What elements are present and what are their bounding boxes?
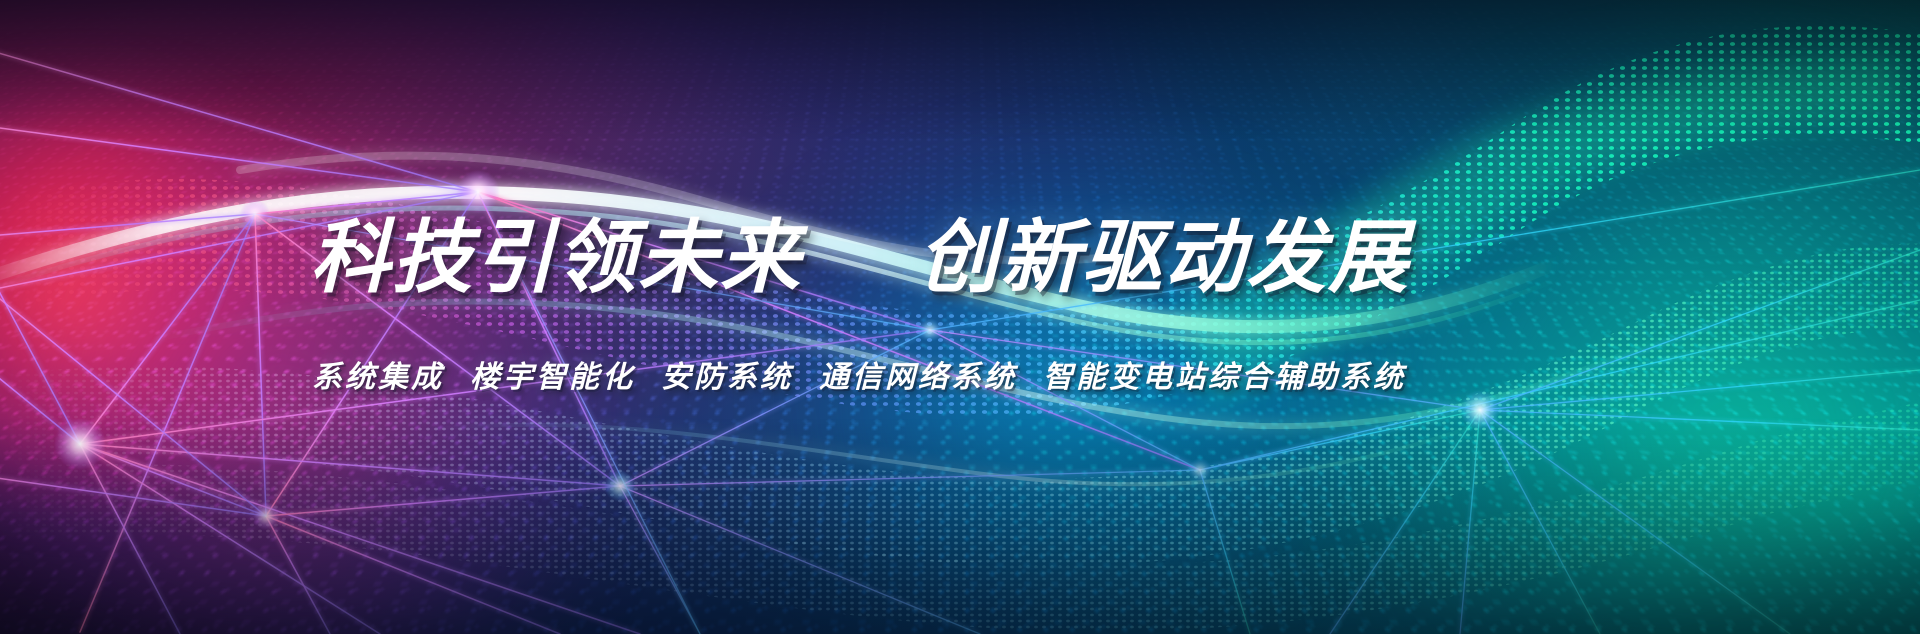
headline: 科技引领未来 创新驱动发展 [310,218,1410,298]
subtitle-item-security-system: 安防系统 [661,360,793,395]
tech-banner: 科技引领未来 创新驱动发展 系统集成楼宇智能化安防系统通信网络系统智能变电站综合… [0,0,1920,634]
subtitle-item-smart-substation: 智能变电站综合辅助系统 [1043,360,1406,395]
subtitle-item-system-integration: 系统集成 [312,360,444,395]
subtitle-item-building-intelligence: 楼宇智能化 [470,360,635,395]
subtitle-item-communication-network: 通信网络系统 [819,360,1017,395]
headline-segment-2: 创新驱动发展 [918,218,1410,298]
headline-segment-1: 科技引领未来 [310,218,802,298]
subtitle: 系统集成楼宇智能化安防系统通信网络系统智能变电站综合辅助系统 [312,352,1406,396]
wireframe-network [0,0,1920,634]
